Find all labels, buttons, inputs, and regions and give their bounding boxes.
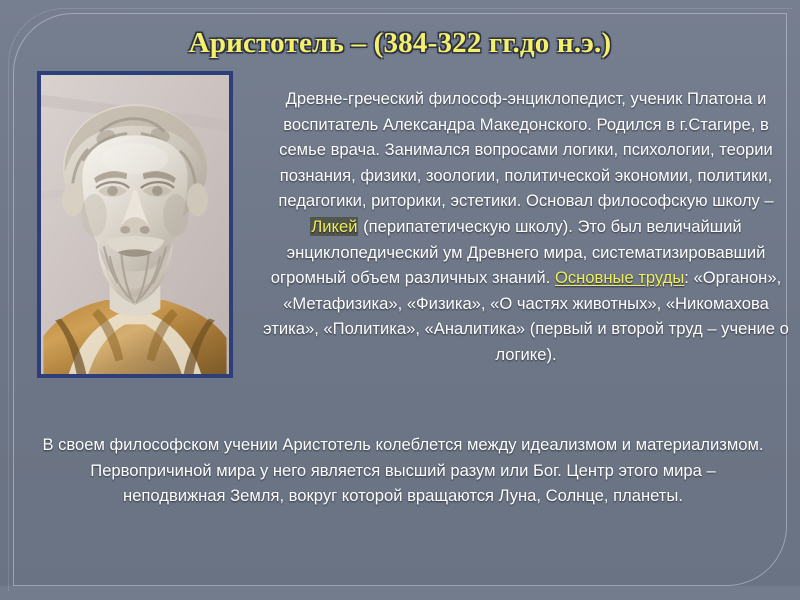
body-text-right-column: Древне-греческий философ-энциклопедист, … bbox=[260, 86, 792, 368]
slide-title: Аристотель – (384-322 гг.до н.э.) bbox=[0, 27, 800, 60]
highlight-main-works-label: Основные труды bbox=[555, 268, 684, 287]
portrait-image-aristotle-bust bbox=[37, 71, 233, 378]
body-text-bottom-paragraph: В своем философском учении Аристотель ко… bbox=[40, 432, 766, 509]
marble-bust-icon bbox=[41, 75, 229, 374]
bottom-band bbox=[0, 586, 800, 600]
body-segment-1: Древне-греческий философ-энциклопедист, … bbox=[278, 89, 773, 210]
presentation-slide: Аристотель – (384-322 гг.до н.э.) bbox=[0, 0, 800, 600]
highlight-lykeion: Ликей bbox=[310, 217, 358, 236]
